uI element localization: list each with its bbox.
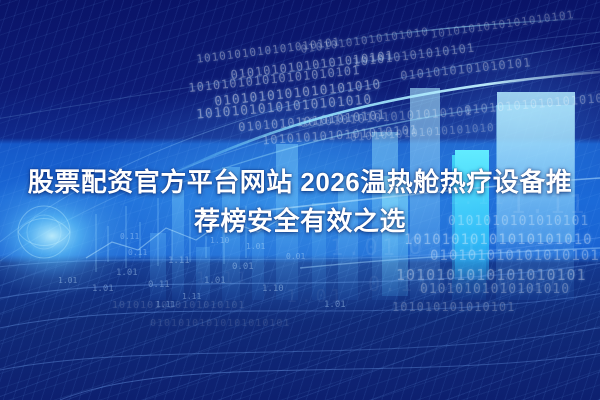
- headline-line-1: 股票配资官方平台网站 2026温热舱热疗设备推: [0, 163, 600, 202]
- headline-line-2: 荐榜安全有效之选: [0, 202, 600, 241]
- page-title: 股票配资官方平台网站 2026温热舱热疗设备推 荐榜安全有效之选: [0, 163, 600, 241]
- banner-image: 1010101010101010101010101010101010101011…: [0, 0, 600, 400]
